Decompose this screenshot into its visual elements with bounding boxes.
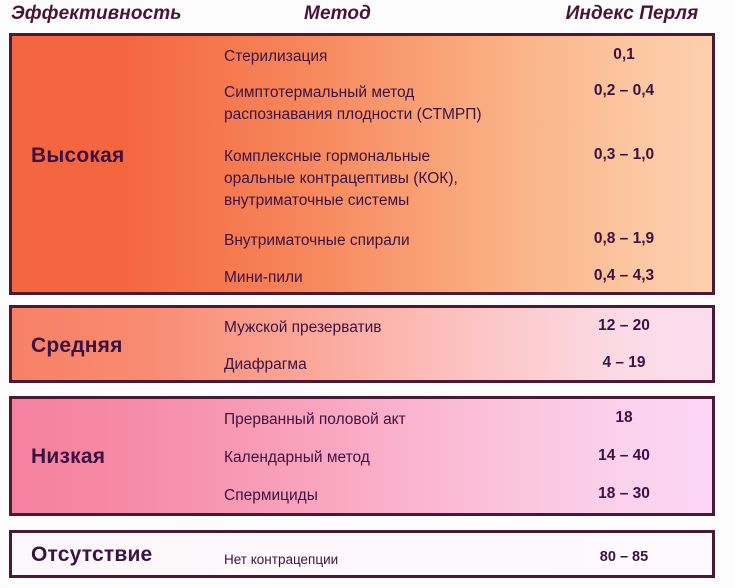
column-header-effectiveness: Эффективность [11, 3, 182, 25]
contraception-effectiveness-table: Эффективность Метод Индекс Перля Высокая… [0, 0, 735, 588]
group-rows-low: Прерванный половой акт 18 Календарный ме… [12, 399, 712, 513]
group-rows-none: Нет контрацепции 80 – 85 [12, 533, 712, 575]
row-pearl-index: 18 – 30 [540, 485, 708, 503]
row-pearl-index: 0,1 [540, 46, 708, 64]
column-header-method: Метод [275, 3, 400, 25]
row-pearl-index: 14 – 40 [540, 447, 708, 465]
row-pearl-index: 12 – 20 [540, 317, 708, 335]
row-pearl-index: 0,2 – 0,4 [540, 82, 708, 100]
row-pearl-index: 0,4 – 4,3 [540, 267, 708, 285]
row-pearl-index: 0,8 – 1,9 [540, 230, 708, 248]
row-method: Симптотермальный метод распознавания пло… [224, 82, 554, 126]
row-method: Стерилизация [224, 46, 554, 68]
row-method: Мужской презерватив [224, 317, 554, 339]
row-pearl-index: 18 [540, 409, 708, 427]
row-method: Комплексные гормональные оральные контра… [224, 146, 554, 212]
row-pearl-index: 0,3 – 1,0 [540, 146, 708, 164]
row-pearl-index: 4 – 19 [540, 354, 708, 372]
group-block-high: Высокая Стерилизация 0,1 Симптотермальны… [9, 33, 715, 295]
row-method: Диафрагма [224, 354, 554, 376]
group-block-none: Отсутствие Нет контрацепции 80 – 85 [9, 530, 715, 578]
row-method: Спермициды [224, 485, 554, 507]
row-method: Внутриматочные спирали [224, 230, 554, 252]
table-header-row: Эффективность Метод Индекс Перля [0, 0, 735, 31]
row-method: Прерванный половой акт [224, 409, 554, 431]
group-rows-medium: Мужской презерватив 12 – 20 Диафрагма 4 … [12, 308, 712, 380]
row-pearl-index: 80 – 85 [540, 549, 708, 565]
row-method: Календарный метод [224, 447, 554, 469]
row-method: Мини-пили [224, 267, 554, 289]
row-method: Нет контрацепции [224, 549, 554, 571]
group-block-low: Низкая Прерванный половой акт 18 Календа… [9, 396, 715, 516]
group-rows-high: Стерилизация 0,1 Симптотермальный метод … [12, 36, 712, 292]
group-block-medium: Средняя Мужской презерватив 12 – 20 Диаф… [9, 305, 715, 383]
column-header-pearl-index: Индекс Перля [548, 3, 716, 25]
